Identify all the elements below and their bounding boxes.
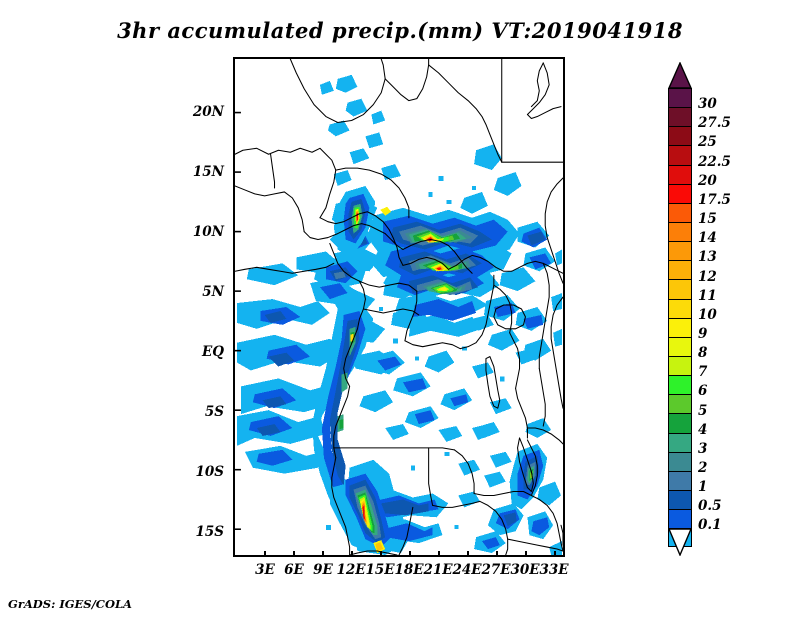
map-plot-area: [233, 57, 565, 557]
colorbar-tick-label-12: 12: [698, 271, 717, 285]
footer-credit: GrADS: IGES/COLA: [8, 597, 132, 611]
colorbar-tick-label-0.1: 0.1: [698, 519, 722, 533]
colorbar-swatch-14: [668, 356, 692, 375]
colorbar-swatch-4: [668, 165, 692, 184]
y-tick-label-10S: 10S: [178, 464, 224, 480]
x-tick-21E: [438, 551, 440, 557]
colorbar-tick-label-15: 15: [698, 213, 717, 227]
colorbar-swatch-8: [668, 241, 692, 260]
x-tick-18E: [409, 551, 411, 557]
x-tick-12E: [351, 551, 353, 557]
colorbar-swatch-11: [668, 299, 692, 318]
colorbar-swatch-21: [668, 490, 692, 509]
colorbar-swatch-5: [668, 184, 692, 203]
colorbar-swatch-19: [668, 452, 692, 471]
y-tick-label-10N: 10N: [178, 224, 224, 240]
colorbar-tick-label-8: 8: [698, 347, 707, 361]
colorbar-swatch-0: [668, 88, 692, 107]
colorbar-tick-label-17.5: 17.5: [698, 194, 731, 208]
precipitation-map: [235, 59, 563, 555]
x-tick-15E: [380, 551, 382, 557]
colorbar-swatch-12: [668, 318, 692, 337]
x-tick-6E: [293, 551, 295, 557]
x-tick-27E: [496, 551, 498, 557]
colorbar-swatch-9: [668, 260, 692, 279]
colorbar-swatch-16: [668, 394, 692, 413]
y-tick-label-20N: 20N: [178, 104, 224, 120]
y-tick-label-5N: 5N: [178, 284, 224, 300]
colorbar-tick-label-30: 30: [698, 98, 717, 112]
colorbar-tick-label-22.5: 22.5: [698, 156, 731, 170]
colorbar-cap-top: [668, 62, 692, 89]
colorbar-tick-label-6: 6: [698, 385, 707, 399]
colorbar-swatch-7: [668, 222, 692, 241]
x-tick-30E: [525, 551, 527, 557]
colorbar-tick-label-5: 5: [698, 405, 707, 419]
colorbar-swatch-17: [668, 413, 692, 432]
x-tick-label-33E: 33E: [534, 562, 574, 578]
y-tick-label-15S: 15S: [178, 524, 224, 540]
precip-field: [237, 75, 562, 555]
y-tick-label-5S: 5S: [178, 404, 224, 420]
colorbar-tick-label-1: 1: [698, 481, 707, 495]
colorbar-tick-label-9: 9: [698, 328, 707, 342]
colorbar-swatch-20: [668, 471, 692, 490]
colorbar-tick-label-0.5: 0.5: [698, 500, 722, 514]
colorbar-cap-bottom: [668, 528, 692, 556]
colorbar-tick-label-2: 2: [698, 462, 707, 476]
colorbar-swatch-10: [668, 279, 692, 298]
colorbar-swatch-15: [668, 375, 692, 394]
colorbar-tick-label-25: 25: [698, 136, 717, 150]
colorbar-swatch-18: [668, 433, 692, 452]
colorbar-tick-label-27.5: 27.5: [698, 117, 731, 131]
page-title: 3hr accumulated precip.(mm) VT:201904191…: [0, 18, 800, 43]
colorbar-tick-label-7: 7: [698, 366, 707, 380]
colorbar-swatch-3: [668, 145, 692, 164]
colorbar-swatch-2: [668, 126, 692, 145]
colorbar-swatch-1: [668, 107, 692, 126]
colorbar-tick-label-4: 4: [698, 424, 707, 438]
y-tick-label-15N: 15N: [178, 164, 224, 180]
colorbar-swatch-22: [668, 509, 692, 528]
colorbar-tick-label-20: 20: [698, 175, 717, 189]
colorbar-swatch-6: [668, 203, 692, 222]
x-tick-33E: [554, 551, 556, 557]
y-tick-label-EQ: EQ: [178, 344, 224, 360]
colorbar-tick-label-14: 14: [698, 232, 717, 246]
x-tick-3E: [264, 551, 266, 557]
x-tick-9E: [322, 551, 324, 557]
colorbar-tick-label-11: 11: [698, 290, 717, 304]
x-tick-24E: [467, 551, 469, 557]
colorbar-tick-label-10: 10: [698, 309, 717, 323]
colorbar-tick-label-3: 3: [698, 443, 707, 457]
colorbar-tick-label-13: 13: [698, 251, 717, 265]
colorbar: [668, 88, 692, 547]
colorbar-swatch-13: [668, 337, 692, 356]
